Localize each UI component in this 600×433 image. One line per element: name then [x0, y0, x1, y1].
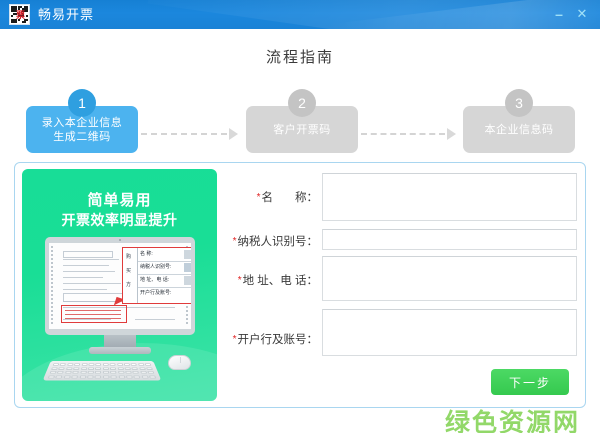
- step-badge-1: 1: [68, 89, 96, 117]
- label-name: *名称：: [225, 191, 318, 205]
- callout-sidebar: 购 买 方: [123, 248, 138, 303]
- callout-sidebar-char: 方: [126, 282, 131, 288]
- label-bank: *开户行及账号：: [225, 333, 318, 347]
- input-company-name[interactable]: [322, 173, 577, 221]
- mouse-illustration: [168, 355, 191, 370]
- main-card: 简单易用 开票效率明显提升: [14, 162, 586, 408]
- invoice-perforation-left: [51, 246, 54, 326]
- promo-subline: 开票效率明显提升: [22, 210, 217, 230]
- application-window: 票 畅易开票 – ✕ 流程指南 1 录入本企业信息 生成二维码 2 客户开: [0, 0, 600, 433]
- step-item-1[interactable]: 1 录入本企业信息 生成二维码: [26, 106, 138, 153]
- callout-sidebar-char: 购: [126, 254, 131, 260]
- invoice-highlight-box: [61, 305, 127, 323]
- input-bank-account[interactable]: [322, 309, 577, 356]
- callout-sidebar-char: 买: [126, 268, 131, 274]
- step-connector-1: [141, 128, 243, 140]
- next-step-button[interactable]: 下一步: [491, 369, 569, 395]
- label-taxid: *纳税人识别号：: [225, 235, 318, 249]
- label-address: *地 址、电 话：: [225, 274, 318, 288]
- titlebar-sheen-1: [148, 0, 600, 29]
- close-icon[interactable]: ✕: [573, 5, 591, 23]
- invoice-callout: 购 买 方 名 称: 纳税人识别号:: [122, 247, 191, 304]
- step-item-2[interactable]: 2 客户开票码: [246, 106, 358, 153]
- app-title: 畅易开票: [38, 6, 94, 23]
- watermark-text: 绿色资源网: [430, 409, 595, 433]
- step-item-3[interactable]: 3 本企业信息码: [463, 106, 575, 153]
- minimize-button[interactable]: –: [550, 5, 568, 23]
- step-indicator: 1 录入本企业信息 生成二维码 2 客户开票码 3 本企业信息码: [0, 87, 600, 155]
- callout-row: 纳税人识别号:: [138, 261, 191, 275]
- content-area: 流程指南 1 录入本企业信息 生成二维码 2 客户开票码: [0, 29, 600, 433]
- callout-row: 名 称:: [138, 248, 191, 262]
- promo-panel: 简单易用 开票效率明显提升: [22, 169, 217, 401]
- promo-headline: 简单易用: [22, 189, 217, 210]
- step-label-3: 本企业信息码: [463, 123, 575, 137]
- step-label-1: 录入本企业信息 生成二维码: [26, 116, 138, 144]
- step-badge-2: 2: [288, 89, 316, 117]
- callout-row: 开户行及账号:: [138, 287, 191, 300]
- icon-red-mark: 票: [16, 11, 24, 20]
- company-info-form: *名称： *纳税人识别号： *地 址、电 话： *开户行及账号： 下一步: [225, 173, 580, 401]
- watermark: 绿色资源网 www.downcc.com: [430, 409, 595, 433]
- monitor-base: [89, 347, 151, 354]
- input-address-phone[interactable]: [322, 256, 577, 301]
- keyboard-illustration: [43, 361, 162, 381]
- monitor-illustration: 购 买 方 名 称: 纳税人识别号:: [45, 237, 195, 335]
- qr-code-app-icon: 票: [9, 4, 30, 25]
- step-badge-3: 3: [505, 89, 533, 117]
- page-title: 流程指南: [0, 46, 600, 67]
- webcam-dot-icon: [119, 239, 121, 241]
- step-connector-2: [361, 128, 461, 140]
- title-bar: 票 畅易开票 – ✕: [0, 0, 600, 29]
- input-taxpayer-id[interactable]: [322, 229, 577, 250]
- monitor-screen: 购 买 方 名 称: 纳税人识别号:: [49, 243, 191, 329]
- arrow-right-icon: [447, 128, 456, 140]
- callout-row: 地 址、电 话:: [138, 274, 191, 288]
- arrow-right-icon: [229, 128, 238, 140]
- step-label-2: 客户开票码: [246, 123, 358, 137]
